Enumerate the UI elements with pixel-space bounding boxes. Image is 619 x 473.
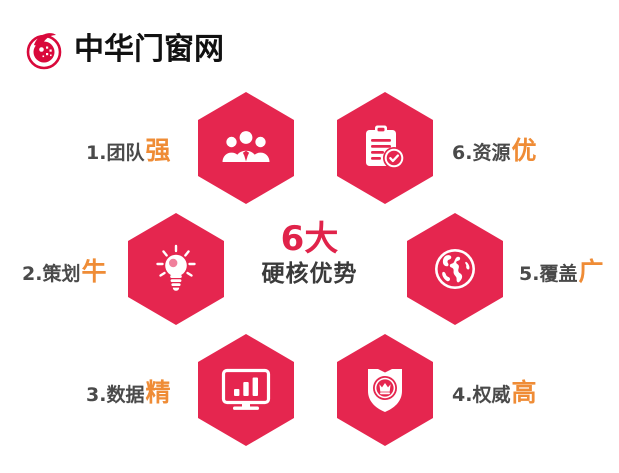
hex-tile-coverage[interactable]: [407, 213, 503, 325]
advantage-index: 5.: [519, 265, 539, 284]
hex-tile-plan[interactable]: [128, 213, 224, 325]
monitor-bar-chart-icon: [221, 368, 271, 412]
hex-tile-data[interactable]: [198, 334, 294, 446]
clipboard-check-icon: [363, 125, 407, 171]
advantage-text: 资源: [472, 144, 510, 163]
people-group-icon: [221, 130, 271, 166]
advantage-text: 团队: [106, 144, 144, 163]
advantage-text: 数据: [106, 386, 144, 405]
flame-circle-logo-icon: [22, 28, 66, 72]
globe-icon: [432, 246, 478, 292]
site-logo[interactable]: 中华门窗网: [22, 28, 224, 72]
advantage-index: 4.: [452, 386, 472, 405]
advantage-index: 3.: [86, 386, 106, 405]
advantage-index: 1.: [86, 144, 106, 163]
advantage-keyword: 精: [145, 380, 170, 405]
label-advantage-plan: 2. 策划 牛: [22, 259, 106, 284]
advantage-text: 策划: [42, 265, 80, 284]
advantage-keyword: 优: [511, 138, 536, 163]
advantage-keyword: 强: [145, 138, 170, 163]
advantage-text: 覆盖: [539, 265, 577, 284]
hex-tile-authority[interactable]: [337, 334, 433, 446]
hex-tile-resource[interactable]: [337, 92, 433, 204]
advantage-index: 6.: [452, 144, 472, 163]
label-advantage-coverage: 5. 覆盖 广: [519, 259, 603, 284]
advantage-keyword: 高: [511, 380, 536, 405]
lightbulb-idea-icon: [153, 244, 199, 294]
advantage-keyword: 牛: [81, 259, 106, 284]
shield-crown-icon: [363, 366, 407, 414]
advantage-keyword: 广: [578, 259, 603, 284]
center-headline: 6大: [0, 222, 619, 258]
advantage-index: 2.: [22, 265, 42, 284]
hex-tile-team[interactable]: [198, 92, 294, 204]
logo-text: 中华门窗网: [74, 35, 224, 65]
label-advantage-authority: 4. 权威 高: [452, 380, 536, 405]
label-advantage-team: 1. 团队 强: [86, 138, 170, 163]
label-advantage-resource: 6. 资源 优: [452, 138, 536, 163]
advantage-text: 权威: [472, 386, 510, 405]
label-advantage-data: 3. 数据 精: [86, 380, 170, 405]
